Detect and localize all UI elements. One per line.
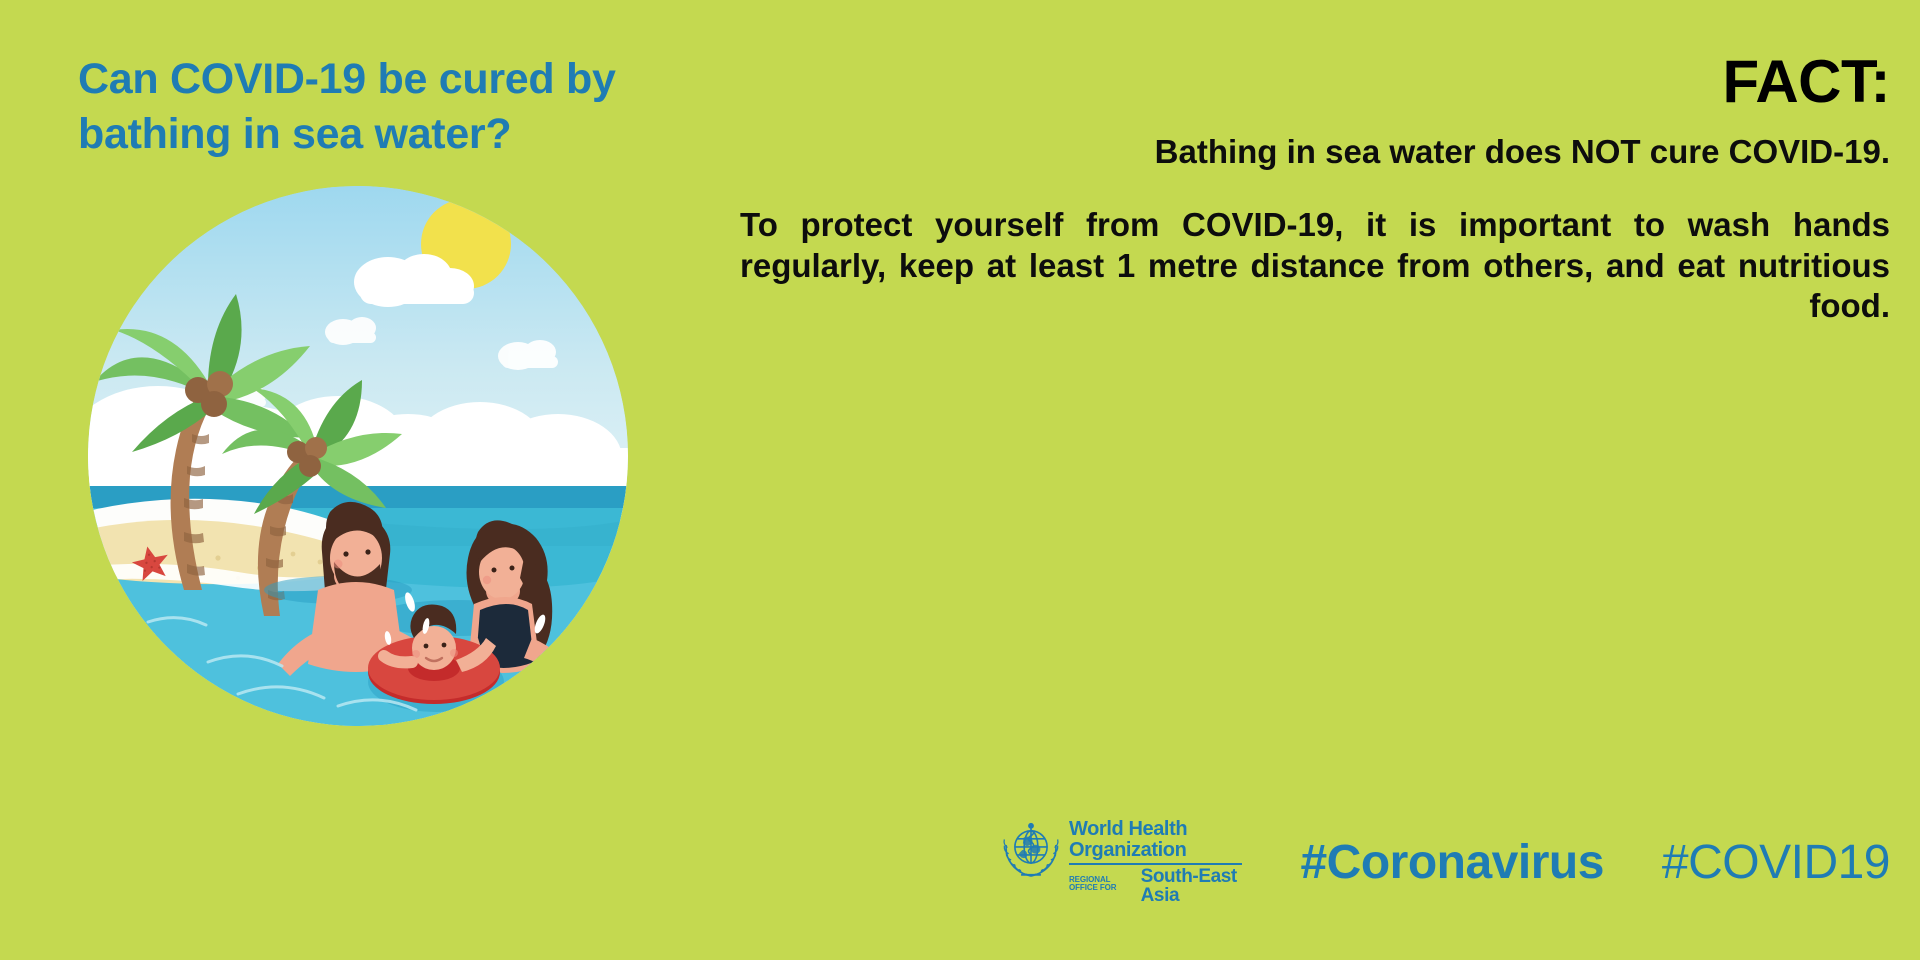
who-line-1: World Health	[1069, 819, 1242, 839]
who-line-2: Organization	[1069, 840, 1242, 860]
who-region-name: South-East Asia	[1141, 867, 1243, 905]
family-bathing-in-sea-illustration	[88, 186, 628, 726]
who-logo: World Health Organization REGIONAL OFFIC…	[1000, 819, 1242, 905]
fact-body-text: To protect yourself from COVID-19, it is…	[740, 205, 1890, 327]
who-regional-label: REGIONAL OFFICE FOR	[1069, 876, 1136, 892]
who-emblem-icon	[1000, 819, 1062, 881]
fact-label: FACT:	[1723, 52, 1890, 112]
infographic-canvas: Can COVID-19 be cured by bathing in sea …	[0, 0, 1920, 960]
hashtag-covid19[interactable]: #COVID19	[1662, 835, 1890, 890]
who-divider	[1069, 863, 1242, 865]
headline-line-2: bathing in sea water?	[78, 107, 718, 162]
page-title: Can COVID-19 be cured by bathing in sea …	[78, 52, 718, 162]
footer: World Health Organization REGIONAL OFFIC…	[1000, 819, 1890, 905]
headline-line-1: Can COVID-19 be cured by	[78, 52, 718, 107]
fact-lead-text: Bathing in sea water does NOT cure COVID…	[740, 132, 1890, 172]
who-wordmark: World Health Organization REGIONAL OFFIC…	[1069, 819, 1242, 905]
hashtag-coronavirus[interactable]: #Coronavirus	[1300, 835, 1603, 890]
